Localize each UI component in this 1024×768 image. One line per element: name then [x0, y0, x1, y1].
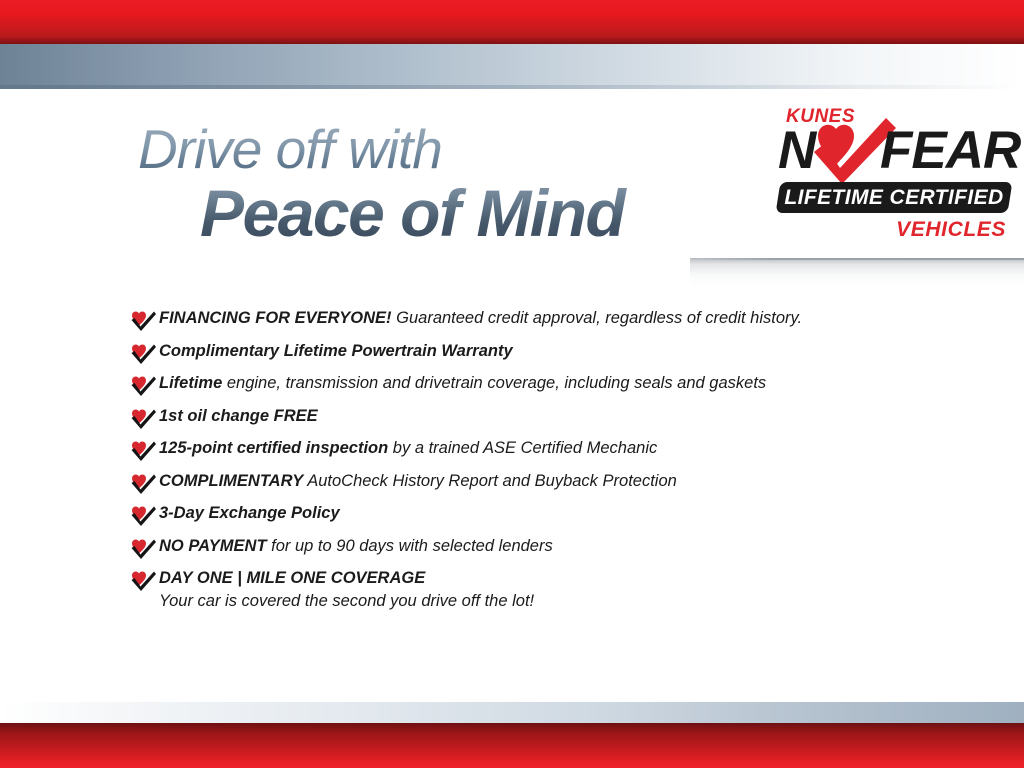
benefit-item-text: NO PAYMENT for up to 90 days with select…	[159, 536, 553, 557]
benefit-item: Complimentary Lifetime Powertrain Warran…	[130, 341, 960, 364]
heart-check-bullet-icon	[130, 408, 156, 429]
benefit-item-text: Lifetime engine, transmission and drivet…	[159, 373, 766, 394]
benefit-item: COMPLIMENTARY AutoCheck History Report a…	[130, 471, 960, 494]
benefit-item-text: COMPLIMENTARY AutoCheck History Report a…	[159, 471, 677, 492]
logo-certified-bar: LIFETIME CERTIFIED	[776, 182, 1013, 213]
heart-check-bullet-icon	[130, 505, 156, 526]
heart-check-bullet-icon	[130, 343, 156, 364]
benefit-item-text: 3-Day Exchange Policy	[159, 503, 340, 524]
benefit-item: 1st oil change FREE	[130, 406, 960, 429]
logo-word-vehicles: VEHICLES	[896, 218, 1006, 242]
top-red-band	[0, 0, 1024, 44]
benefit-item-text: Complimentary Lifetime Powertrain Warran…	[159, 341, 513, 362]
benefit-item-detail: engine, transmission and drivetrain cove…	[222, 374, 766, 392]
benefit-item-headline: 125-point certified inspection	[159, 439, 388, 457]
logo-certified-bar-text: LIFETIME CERTIFIED	[778, 182, 1010, 213]
top-gray-band	[0, 44, 1024, 89]
benefit-item-headline: 3-Day Exchange Policy	[159, 504, 340, 522]
heart-check-bullet-icon	[130, 538, 156, 559]
bottom-red-band	[0, 723, 1024, 768]
bottom-gray-band	[0, 702, 1024, 724]
logo-wordmark: N FEAR	[776, 126, 1012, 180]
heart-check-bullet-icon	[130, 375, 156, 396]
logo-letter-n: N	[778, 124, 814, 177]
heart-check-bullet-icon	[130, 440, 156, 461]
benefit-item: 125-point certified inspection by a trai…	[130, 438, 960, 461]
headline-line-2: Peace of Mind	[200, 179, 758, 248]
benefit-item-detail: Guaranteed credit approval, regardless o…	[392, 309, 803, 327]
benefit-item-text: FINANCING FOR EVERYONE! Guaranteed credi…	[159, 308, 802, 329]
benefit-item: DAY ONE | MILE ONE COVERAGEYour car is c…	[130, 568, 960, 611]
benefit-item-subtext: Your car is covered the second you drive…	[159, 592, 534, 611]
benefit-item: 3-Day Exchange Policy	[130, 503, 960, 526]
benefit-item-headline: FINANCING FOR EVERYONE!	[159, 309, 392, 327]
benefit-item-text: 1st oil change FREE	[159, 406, 318, 427]
benefit-item-headline: NO PAYMENT	[159, 537, 267, 555]
logo-word-fear: FEAR	[880, 124, 1020, 177]
benefit-item-detail: AutoCheck History Report and Buyback Pro…	[303, 472, 677, 490]
heart-check-bullet-icon	[130, 310, 156, 331]
benefit-item-text: 125-point certified inspection by a trai…	[159, 438, 657, 459]
benefit-item-headline: 1st oil change FREE	[159, 407, 318, 425]
benefit-item-text: DAY ONE | MILE ONE COVERAGE	[159, 568, 534, 589]
benefits-list: FINANCING FOR EVERYONE! Guaranteed credi…	[130, 308, 960, 620]
headline-divider	[690, 258, 1024, 286]
kunes-no-fear-logo: KUNES N FEAR LIFETIME CERTIFIED VEHICLES	[776, 106, 1012, 248]
top-banner	[0, 0, 1024, 90]
benefit-item-headline: Lifetime	[159, 374, 222, 392]
benefit-item: FINANCING FOR EVERYONE! Guaranteed credi…	[130, 308, 960, 331]
benefit-item-headline: DAY ONE | MILE ONE COVERAGE	[159, 569, 425, 587]
benefit-item-detail: by a trained ASE Certified Mechanic	[388, 439, 657, 457]
heart-check-bullet-icon	[130, 473, 156, 494]
headline: Drive off with Peace of Mind	[138, 122, 758, 248]
heart-check-bullet-icon	[130, 570, 156, 591]
benefit-item: Lifetime engine, transmission and drivet…	[130, 373, 960, 396]
headline-line-1: Drive off with	[138, 122, 758, 177]
benefit-item: NO PAYMENT for up to 90 days with select…	[130, 536, 960, 559]
bottom-banner	[0, 690, 1024, 768]
benefit-item-headline: Complimentary Lifetime Powertrain Warran…	[159, 342, 513, 360]
benefit-item-detail: for up to 90 days with selected lenders	[267, 537, 553, 555]
benefit-item-headline: COMPLIMENTARY	[159, 472, 303, 490]
